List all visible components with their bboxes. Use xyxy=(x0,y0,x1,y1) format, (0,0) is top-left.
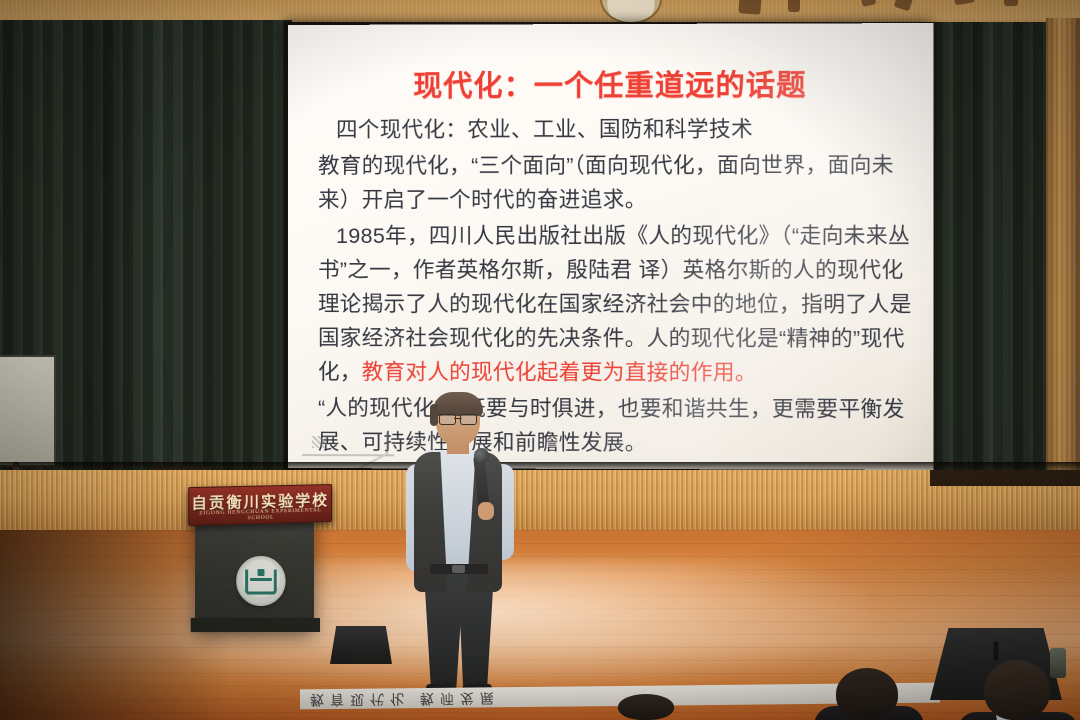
presenter-belt-buckle xyxy=(452,565,465,573)
school-emblem-icon xyxy=(236,556,285,606)
watermark-mark xyxy=(312,436,327,448)
monitor-handle-slot xyxy=(994,641,999,661)
pillar-grain xyxy=(1046,18,1080,538)
backdrop-banner-glyph xyxy=(1004,0,1018,6)
slide-text-run: 四个现代化：农业、工业、国防和科学技术 xyxy=(336,117,753,142)
slide-text-run: 教育的现代化，“三个面向”（面向现代化，面向世界，面向未来）开启了一个时代的奋进… xyxy=(318,153,894,212)
whiteboard-easel xyxy=(0,355,56,467)
podium-base xyxy=(191,618,320,632)
slat-lines xyxy=(0,470,1080,532)
projection-screen: 现代化：一个任重道远的话题 四个现代化：农业、工业、国防和科学技术 教育的现代化… xyxy=(288,23,934,470)
audience-head xyxy=(836,668,898,720)
stage-monitor-speaker xyxy=(330,626,392,664)
stage-edge-banner-text: 教育现代化 教师发展 xyxy=(310,688,500,709)
auditorium-stage-photo: 现代化：一个任重道远的话题 四个现代化：农业、工业、国防和科学技术 教育的现代化… xyxy=(0,0,1080,720)
presenter-hair xyxy=(433,392,483,416)
presenter xyxy=(392,392,524,692)
audience-head xyxy=(618,694,674,720)
slide-text-run-highlight: 教育对人的现代化起着更为直接的作用。 xyxy=(362,360,757,385)
slide-paragraph-3: 1985年，四川人民出版社出版《人的现代化》（“走向未来丛书”之一，作者英格尔斯… xyxy=(318,219,915,390)
wooden-pillar xyxy=(1046,18,1080,538)
podium-sign-english: ZIGONG HENGCHUAN EXPERIMENTAL SCHOOL xyxy=(189,507,331,523)
glasses-icon xyxy=(439,414,477,423)
slide-corner-watermark-icon xyxy=(302,430,394,456)
presenter-hand xyxy=(478,502,494,520)
backdrop-banner-glyph xyxy=(738,0,763,15)
slide-paragraph-2: 教育的现代化，“三个面向”（面向现代化，面向世界，面向未来）开启了一个时代的奋进… xyxy=(318,148,915,217)
stage-curtain-right xyxy=(930,22,1048,492)
emblem-arch xyxy=(245,569,277,594)
slide-paragraph-1: 四个现代化：农业、工业、国防和科学技术 xyxy=(318,112,915,147)
microphone-head-icon xyxy=(474,448,489,463)
audience-head xyxy=(984,660,1050,720)
glasses-lens-right xyxy=(460,414,477,425)
water-bottle xyxy=(1050,648,1066,678)
backdrop-banner-glyph xyxy=(788,0,800,12)
slide-title: 现代化：一个任重道远的话题 xyxy=(288,61,934,105)
curtain-folds xyxy=(930,22,1048,492)
glasses-lens-left xyxy=(439,414,456,425)
presenter-hair-side xyxy=(430,404,438,426)
podium-school-sign: 自贡衡川实验学校 ZIGONG HENGCHUAN EXPERIMENTAL S… xyxy=(188,484,332,526)
wall-dark-section-right xyxy=(930,470,1080,486)
wooden-slat-wall xyxy=(0,470,1080,532)
